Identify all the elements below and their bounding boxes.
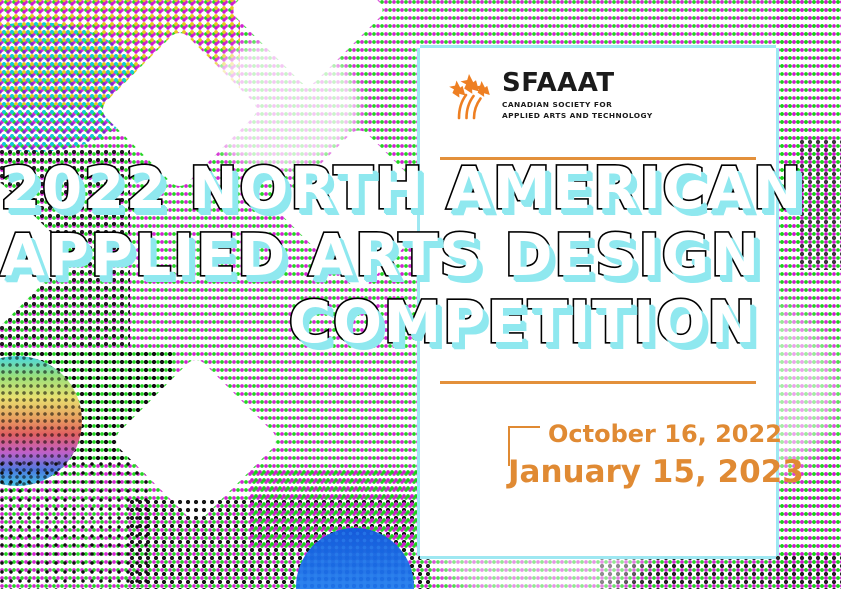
divider-rule-top (440, 157, 756, 160)
maple-leaf-icon (446, 72, 492, 120)
background-white-bloom-1 (200, 40, 360, 170)
background-column-right-ink (800, 140, 841, 270)
brand-subtitle-line1: CANADIAN SOCIETY FOR (502, 100, 612, 109)
date-start: October 16, 2022 (548, 422, 804, 446)
brand-name: SFAAAT (502, 70, 653, 96)
poster-canvas: SFAAAT CANADIAN SOCIETY FOR APPLIED ARTS… (0, 0, 841, 589)
brand-subtitle-line2: APPLIED ARTS AND TECHNOLOGY (502, 111, 653, 120)
background-column-right (776, 0, 841, 589)
event-dates: October 16, 2022 January 15, 2023 (508, 422, 804, 488)
divider-rule-bottom (440, 381, 756, 384)
brand-logo: SFAAAT CANADIAN SOCIETY FOR APPLIED ARTS… (446, 70, 653, 121)
date-bracket-icon (508, 426, 540, 466)
date-end: January 15, 2023 (508, 457, 804, 488)
brand-logo-text: SFAAAT CANADIAN SOCIETY FOR APPLIED ARTS… (502, 70, 653, 121)
content-card: SFAAAT CANADIAN SOCIETY FOR APPLIED ARTS… (420, 48, 776, 556)
background-grid-fine-bottomleft (0, 462, 150, 589)
brand-subtitle: CANADIAN SOCIETY FOR APPLIED ARTS AND TE… (502, 100, 653, 121)
